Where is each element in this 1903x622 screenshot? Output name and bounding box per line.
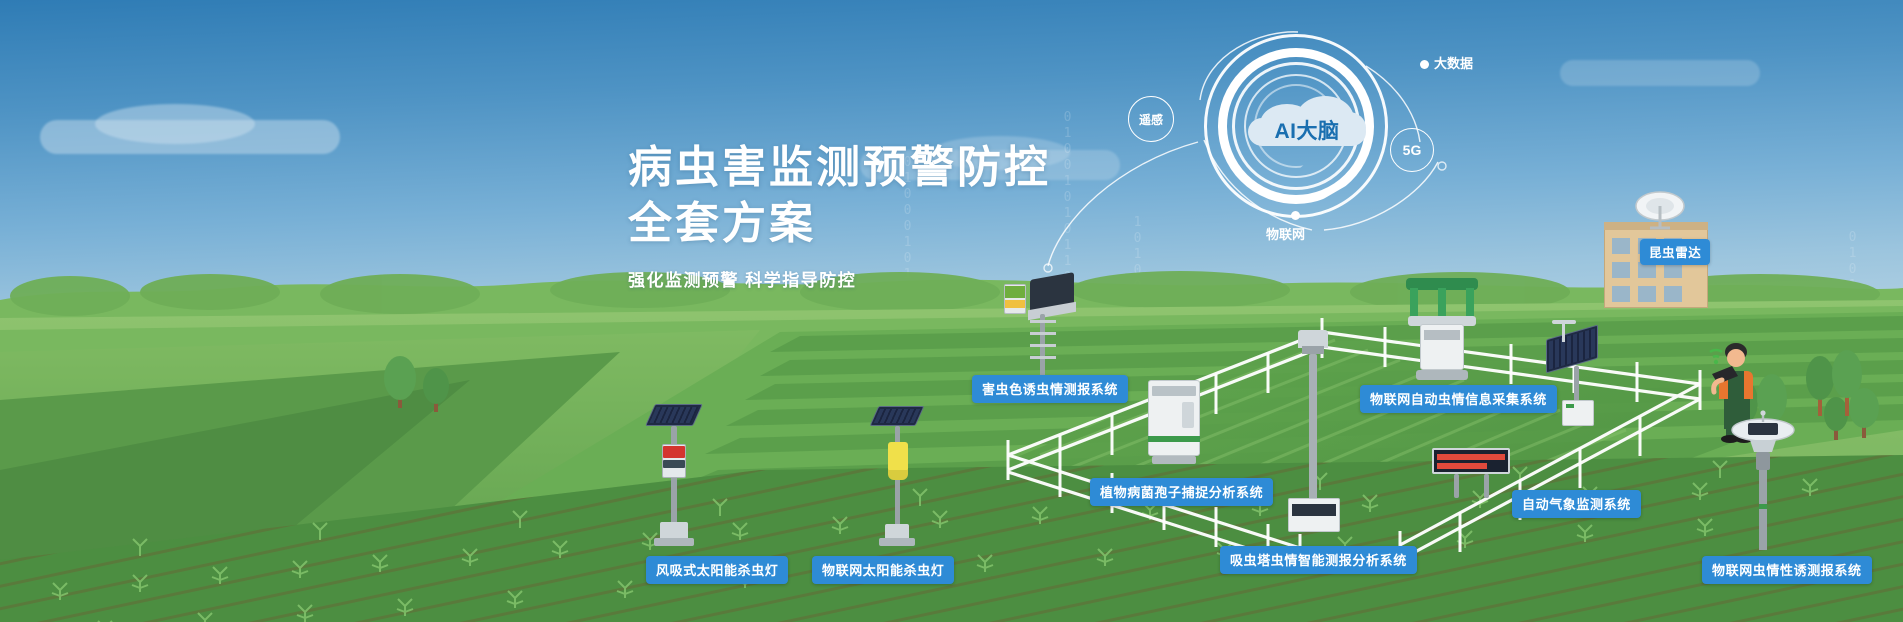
label-weather-station[interactable]: 自动气象监测系统 [1512,490,1641,518]
label-spore-capture-system[interactable]: 植物病菌孢子捕捉分析系统 [1090,478,1273,506]
node-5g-label: 5G [1403,142,1422,158]
label-insect-radar[interactable]: 昆虫雷达 [1640,239,1710,265]
headline-block: 病虫害监测预警防控 全套方案 强化监测预警 科学指导防控 [628,140,1051,291]
label-wind-solar-lamp[interactable]: 风吸式太阳能杀虫灯 [646,556,788,584]
device-spore-capture-system[interactable] [1148,380,1208,480]
label-iot-pest-collector[interactable]: 物联网自动虫情信息采集系统 [1360,385,1557,413]
label-iot-solar-lamp[interactable]: 物联网太阳能杀虫灯 [812,556,954,584]
page-title-line2: 全套方案 [628,196,1051,252]
node-remote-sensing[interactable]: 遥感 [1128,96,1174,142]
device-suction-tower-system[interactable] [1284,330,1344,540]
label-suction-tower-system[interactable]: 吸虫塔虫情智能测报分析系统 [1220,546,1417,574]
node-remote-sensing-label: 遥感 [1139,111,1163,128]
page-subtitle: 强化监测预警 科学指导防控 [628,266,1051,291]
ai-brain-label: AI大脑 [1248,118,1366,146]
device-anemometer [1548,326,1598,366]
device-color-lure-system[interactable] [992,276,1082,386]
device-iot-solar-lamp[interactable] [868,400,928,550]
label-iot-pheromone-system[interactable]: 物联网虫情性诱测报系统 [1702,556,1872,584]
device-led-display-board [1432,448,1510,498]
label-color-lure-system[interactable]: 害虫色诱虫情测报系统 [972,375,1128,403]
device-wind-solar-lamp[interactable] [640,400,710,550]
node-iot-dot [1291,211,1300,220]
ai-cloud-icon: AI大脑 [1248,96,1366,146]
device-iot-pest-collector[interactable] [1398,278,1488,388]
page-title-line1: 病虫害监测预警防控 [628,140,1051,196]
node-5g[interactable]: 5G [1390,128,1434,172]
node-bigdata-dot [1420,60,1429,69]
device-iot-pheromone-system[interactable] [1728,408,1798,558]
node-iot-label: 物联网 [1266,224,1305,243]
wifi-icon [1710,350,1722,364]
ai-brain-graphic: AI大脑 遥感 5G 大数据 物联网 [1128,24,1528,244]
radar-dish-icon [1616,188,1702,234]
infographic-canvas: 010001011010010100101 010010101101001010… [0,0,1903,622]
node-bigdata-label: 大数据 [1434,53,1473,72]
